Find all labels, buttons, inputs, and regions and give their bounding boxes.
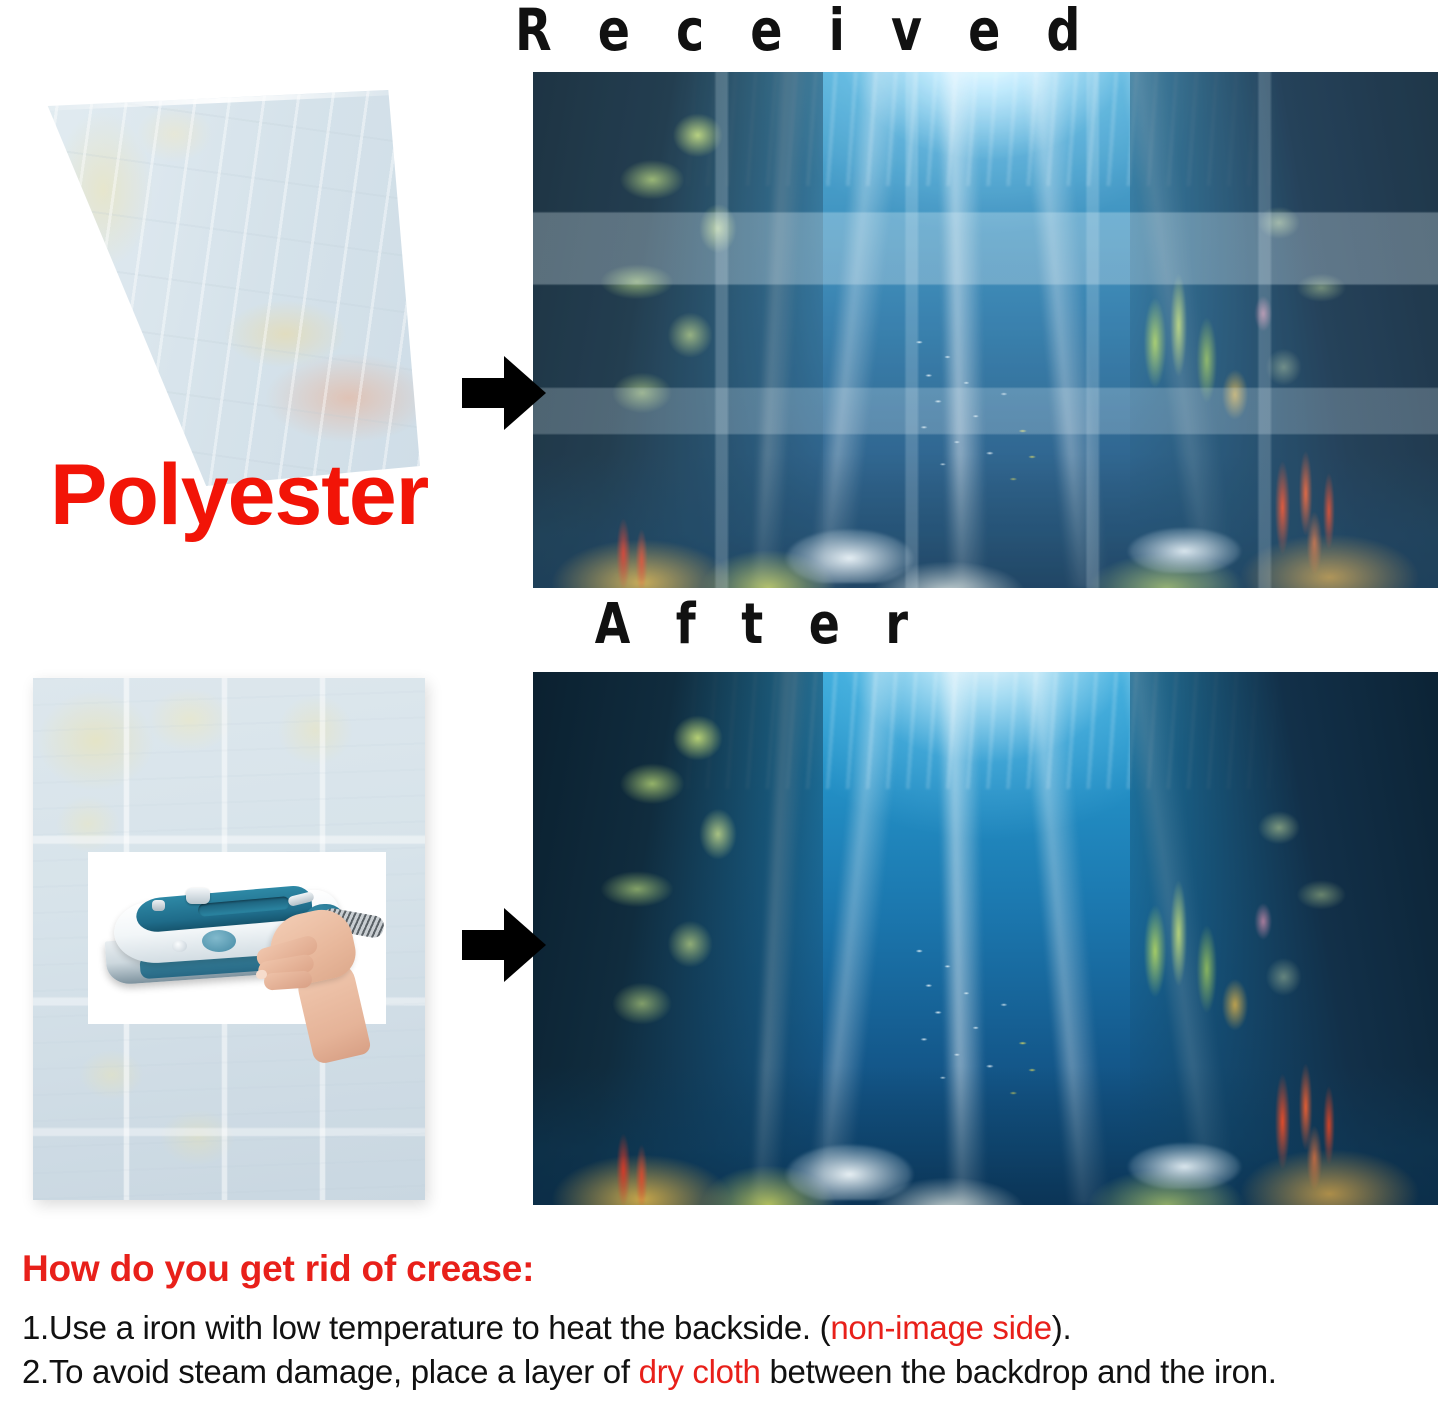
arrow-shaft: [462, 378, 508, 408]
instructions-block: How do you get rid of crease: 1.Use a ir…: [22, 1248, 1422, 1394]
reef-red-coral-left: [587, 1088, 678, 1205]
received-backdrop-image: [533, 72, 1438, 588]
arrow-head: [504, 908, 546, 982]
iron-dial-large: [202, 930, 236, 952]
instructions-question: How do you get rid of crease:: [22, 1248, 1422, 1290]
heading-received: R e c e i v e d: [515, 0, 925, 64]
reef-white-rock-right: [1112, 1136, 1257, 1189]
step1-highlight: non-image side: [830, 1309, 1051, 1346]
step1-text-a: 1.Use a iron with low temperature to hea…: [22, 1309, 830, 1346]
iron-spray-button: [152, 900, 165, 911]
arrow-head: [504, 356, 546, 430]
step2-highlight: dry cloth: [639, 1353, 761, 1390]
arrow-shaft: [462, 930, 508, 960]
after-backdrop-image: [533, 672, 1438, 1205]
step2-text-a: 2.To avoid steam damage, place a layer o…: [22, 1353, 639, 1390]
instruction-step-1: 1.Use a iron with low temperature to hea…: [22, 1306, 1422, 1350]
fabric-fold-streaks: [24, 86, 420, 486]
iron-photo: [88, 852, 386, 1024]
iron-steam-knob: [186, 888, 210, 904]
polyester-label: Polyester: [50, 452, 428, 538]
hand-finger-3: [263, 970, 312, 990]
reef-haze: [533, 72, 1438, 588]
iron-dial-small: [172, 940, 187, 952]
reef-white-rock-left: [768, 1136, 931, 1200]
right-arrow-icon-received: [462, 356, 548, 430]
hand-icon: [254, 912, 382, 1062]
step1-text-b: ).: [1052, 1309, 1072, 1346]
right-arrow-icon-after: [462, 908, 548, 982]
step2-text-b: between the backdrop and the iron.: [761, 1353, 1277, 1390]
instruction-step-2: 2.To avoid steam damage, place a layer o…: [22, 1350, 1422, 1394]
folded-fabric-image: [24, 86, 420, 486]
heading-after: A f t e r: [595, 592, 866, 657]
reef-red-coral-right: [1239, 1013, 1384, 1194]
